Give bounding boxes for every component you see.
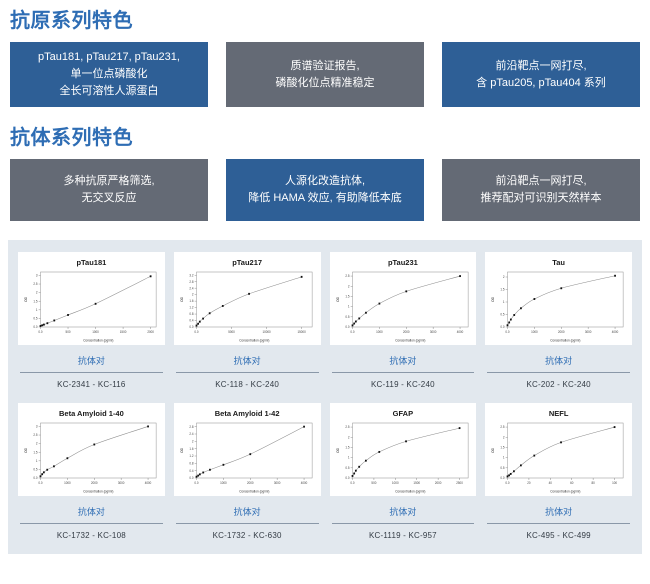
antibody-pair-code: KC-118 - KC-240	[174, 373, 321, 393]
antibody-pair-label: 抗体对	[485, 496, 632, 523]
svg-text:0.0: 0.0	[38, 481, 42, 485]
feature-box: pTau181, pTau217, pTau231,单一位点磷酸化全长可溶性人源…	[10, 42, 208, 107]
chart-y-axis-label: OD	[336, 447, 340, 453]
svg-text:4000: 4000	[301, 481, 308, 485]
chart-data-point	[364, 460, 366, 462]
svg-text:2: 2	[36, 442, 38, 446]
svg-text:1: 1	[347, 456, 349, 460]
feature-box: 质谱验证报告,磷酸化位点精准稳定	[226, 42, 424, 107]
chart-x-axis-label: Concentration (pg/ml)	[83, 338, 113, 342]
chart-data-point	[561, 287, 563, 289]
feature-box: 人源化改造抗体,降低 HAMA 效应, 有助降低本底	[226, 159, 424, 221]
svg-text:0.0: 0.0	[38, 330, 42, 334]
svg-text:2.5: 2.5	[33, 433, 37, 437]
svg-text:1.6: 1.6	[189, 299, 193, 303]
chart-x-axis-label: Concentration (pg/ml)	[550, 489, 580, 493]
svg-text:1: 1	[503, 300, 505, 304]
svg-text:2.5: 2.5	[345, 425, 349, 429]
chart-data-point	[209, 469, 211, 471]
chart-data-point	[378, 303, 380, 305]
antibody-pair-label: 抗体对	[18, 496, 165, 523]
chart-data-point	[514, 314, 516, 316]
svg-text:0.0: 0.0	[501, 325, 505, 329]
chart-plot: 0.010002000300040000.00.40.81.21.622.42.…	[178, 419, 317, 494]
chart-data-point	[508, 474, 510, 476]
chart-data-point	[248, 293, 250, 295]
chart-data-point	[41, 473, 43, 475]
feature-box-line: 降低 HAMA 效应, 有助降低本底	[248, 190, 401, 207]
antibody-pair-code: KC-119 - KC-240	[330, 373, 477, 393]
feature-box-line: 人源化改造抗体,	[285, 173, 365, 190]
chart-data-point	[150, 275, 152, 277]
chart-data-point	[507, 324, 509, 326]
antibody-pair-label: 抗体对	[174, 345, 321, 372]
svg-text:40: 40	[549, 481, 553, 485]
antibody-pair-code: KC-495 - KC-499	[485, 524, 632, 544]
chart-x-axis-label: Concentration (pg/ml)	[239, 489, 269, 493]
chart-plot-area: 0.05001000150020000.00.511.522.53ODConce…	[22, 268, 161, 343]
svg-text:2: 2	[36, 291, 38, 295]
chart-y-axis-label: OD	[24, 447, 28, 453]
svg-text:4000: 4000	[612, 330, 619, 334]
svg-text:1.5: 1.5	[33, 299, 37, 303]
chart-data-point	[41, 324, 43, 326]
chart-data-point	[199, 473, 201, 475]
feature-box-line: 推荐配对可识别天然样本	[481, 190, 602, 207]
chart-x-axis-label: Concentration (pg/ml)	[550, 338, 580, 342]
svg-text:0.4: 0.4	[189, 469, 193, 473]
svg-text:2.8: 2.8	[189, 280, 193, 284]
chart-figure: Tau0.010002000300040000.00.511.52ODConce…	[485, 252, 632, 345]
svg-text:2: 2	[347, 435, 349, 439]
chart-data-point	[358, 466, 360, 468]
svg-text:1000: 1000	[376, 330, 383, 334]
chart-card[interactable]: pTau1810.05001000150020000.00.511.522.53…	[18, 252, 165, 393]
chart-data-point	[510, 473, 512, 475]
chart-data-point	[459, 275, 461, 277]
svg-text:1000: 1000	[92, 330, 99, 334]
chart-card[interactable]: Beta Amyloid 1-420.010002000300040000.00…	[174, 403, 321, 544]
chart-title: Beta Amyloid 1-40	[22, 408, 161, 419]
svg-text:2000: 2000	[434, 481, 441, 485]
svg-text:0.0: 0.0	[189, 476, 193, 480]
svg-text:1000: 1000	[220, 481, 227, 485]
svg-text:0.4: 0.4	[189, 319, 193, 323]
chart-row-bottom: Beta Amyloid 1-400.010002000300040000.00…	[18, 403, 632, 544]
svg-text:10000: 10000	[262, 330, 270, 334]
svg-text:3000: 3000	[118, 481, 125, 485]
chart-y-axis-label: OD	[491, 296, 495, 302]
chart-x-axis-label: Concentration (pg/ml)	[395, 338, 425, 342]
chart-data-point	[197, 323, 199, 325]
svg-text:1500: 1500	[413, 481, 420, 485]
svg-text:1000: 1000	[64, 481, 71, 485]
svg-text:3: 3	[36, 273, 38, 277]
chart-data-point	[507, 475, 509, 477]
svg-text:2.5: 2.5	[33, 282, 37, 286]
feature-box-line: 含 pTau205, pTau404 系列	[476, 75, 606, 92]
chart-plot: 0.010002000300040000.00.511.522.5ODConce…	[334, 268, 473, 343]
chart-figure: pTau2170.0500010000150000.00.40.81.21.62…	[174, 252, 321, 345]
chart-data-point	[43, 324, 45, 326]
svg-text:1.5: 1.5	[345, 445, 349, 449]
chart-data-point	[40, 325, 42, 327]
svg-text:0.0: 0.0	[345, 476, 349, 480]
chart-title: pTau181	[22, 257, 161, 268]
feature-box-line: 多种抗原严格筛选,	[63, 173, 154, 190]
chart-data-point	[520, 464, 522, 466]
svg-text:1.2: 1.2	[189, 306, 193, 310]
chart-data-point	[353, 473, 355, 475]
chart-title: NEFL	[489, 408, 628, 419]
chart-figure: Beta Amyloid 1-420.010002000300040000.00…	[174, 403, 321, 496]
antibody-pair-code: KC-2341 - KC-116	[18, 373, 165, 393]
chart-data-point	[303, 426, 305, 428]
svg-text:2.4: 2.4	[189, 432, 193, 436]
svg-text:0.0: 0.0	[501, 476, 505, 480]
chart-y-axis-label: OD	[180, 447, 184, 453]
svg-text:5000: 5000	[228, 330, 235, 334]
chart-figure: Beta Amyloid 1-400.010002000300040000.00…	[18, 403, 165, 496]
chart-data-point	[93, 444, 95, 446]
chart-figure: pTau2310.010002000300040000.00.511.522.5…	[330, 252, 477, 345]
chart-data-point	[209, 312, 211, 314]
antibody-section-heading: 抗体系列特色	[0, 107, 650, 150]
svg-text:1: 1	[503, 456, 505, 460]
chart-data-point	[202, 318, 204, 320]
svg-text:0.0: 0.0	[506, 330, 510, 334]
svg-text:2: 2	[347, 284, 349, 288]
svg-text:2.5: 2.5	[501, 425, 505, 429]
antibody-pair-label: 抗体对	[18, 345, 165, 372]
chart-plot: 0.05001000150020000.00.511.522.53ODConce…	[22, 268, 161, 343]
chart-data-point	[513, 470, 515, 472]
svg-text:1: 1	[36, 308, 38, 312]
svg-text:2.4: 2.4	[189, 286, 193, 290]
chart-title: pTau217	[178, 257, 317, 268]
svg-text:1.6: 1.6	[189, 447, 193, 451]
feature-box: 前沿靶点一网打尽,推荐配对可识别天然样本	[442, 159, 640, 221]
chart-plot: 0.010002000300040000.00.511.522.53ODConc…	[22, 419, 161, 494]
chart-plot-area: 0.010002000300040000.00.40.81.21.622.42.…	[178, 419, 317, 494]
feature-box-line: 质谱验证报告,	[290, 58, 359, 75]
svg-text:1: 1	[36, 459, 38, 463]
chart-data-point	[53, 465, 55, 467]
svg-text:0.0: 0.0	[194, 481, 198, 485]
chart-card[interactable]: NEFL0.0204060801000.00.511.522.5ODConcen…	[485, 403, 632, 544]
svg-text:0.0: 0.0	[33, 325, 37, 329]
chart-plot: 0.0500010000150000.00.40.81.21.622.42.83…	[178, 268, 317, 343]
svg-text:1.5: 1.5	[501, 445, 505, 449]
antibody-pair-label: 抗体对	[330, 345, 477, 372]
feature-box-line: 磷酸化位点精准稳定	[276, 75, 375, 92]
chart-plot-area: 0.010002000300040000.00.511.52ODConcentr…	[489, 268, 628, 343]
antibody-pair-code: KC-1119 - KC-957	[330, 524, 477, 544]
chart-x-axis-label: Concentration (pg/ml)	[239, 338, 269, 342]
chart-figure: pTau1810.05001000150020000.00.511.522.53…	[18, 252, 165, 345]
chart-data-point	[195, 325, 197, 327]
svg-text:0.5: 0.5	[33, 316, 37, 320]
chart-data-point	[67, 314, 69, 316]
svg-text:0.0: 0.0	[345, 325, 349, 329]
chart-x-axis-label: Concentration (pg/ml)	[83, 489, 113, 493]
chart-plot-area: 0.010002000300040000.00.511.522.5ODConce…	[334, 268, 473, 343]
chart-data-point	[509, 322, 511, 324]
svg-text:0.8: 0.8	[189, 461, 193, 465]
svg-text:2000: 2000	[402, 330, 409, 334]
svg-text:0.0: 0.0	[350, 481, 354, 485]
svg-text:1: 1	[347, 305, 349, 309]
svg-text:0.0: 0.0	[350, 330, 354, 334]
feature-box-line: pTau181, pTau217, pTau231,	[38, 49, 180, 66]
svg-text:2000: 2000	[558, 330, 565, 334]
chart-figure: NEFL0.0204060801000.00.511.522.5ODConcen…	[485, 403, 632, 496]
chart-data-point	[43, 471, 45, 473]
chart-data-point	[197, 475, 199, 477]
chart-data-point	[458, 427, 460, 429]
svg-text:1.5: 1.5	[345, 294, 349, 298]
svg-text:0.5: 0.5	[345, 315, 349, 319]
chart-card[interactable]: GFAP0.050010001500200025000.00.511.522.5…	[330, 403, 477, 544]
svg-text:1.2: 1.2	[189, 454, 193, 458]
chart-data-point	[351, 324, 353, 326]
chart-data-point	[300, 276, 302, 278]
antibody-pair-code: KC-1732 - KC-108	[18, 524, 165, 544]
chart-data-point	[365, 312, 367, 314]
chart-card[interactable]: pTau2310.010002000300040000.00.511.522.5…	[330, 252, 477, 393]
chart-data-point	[351, 475, 353, 477]
chart-data-point	[614, 426, 616, 428]
chart-data-point	[46, 469, 48, 471]
svg-text:2: 2	[192, 293, 194, 297]
chart-data-point	[47, 322, 49, 324]
chart-data-point	[40, 475, 42, 477]
svg-text:0.0: 0.0	[189, 325, 193, 329]
svg-text:500: 500	[66, 330, 71, 334]
chart-grid-panel: pTau1810.05001000150020000.00.511.522.53…	[8, 240, 642, 554]
chart-data-point	[195, 476, 197, 478]
chart-plot: 0.050010001500200025000.00.511.522.5ODCo…	[334, 419, 473, 494]
chart-data-point	[67, 457, 69, 459]
svg-text:0.5: 0.5	[501, 466, 505, 470]
antibody-pair-code: KC-202 - KC-240	[485, 373, 632, 393]
antibody-pair-label: 抗体对	[330, 496, 477, 523]
chart-data-point	[199, 321, 201, 323]
chart-data-point	[534, 455, 536, 457]
svg-text:2000: 2000	[247, 481, 254, 485]
svg-text:0.5: 0.5	[345, 466, 349, 470]
feature-box: 多种抗原严格筛选,无交叉反应	[10, 159, 208, 221]
chart-data-point	[249, 453, 251, 455]
svg-text:2000: 2000	[147, 330, 154, 334]
svg-text:2: 2	[503, 435, 505, 439]
antibody-pair-code: KC-1732 - KC-630	[174, 524, 321, 544]
chart-row-top: pTau1810.05001000150020000.00.511.522.53…	[18, 252, 632, 393]
antibody-pair-label: 抗体对	[485, 345, 632, 372]
svg-text:2.5: 2.5	[345, 274, 349, 278]
svg-text:20: 20	[528, 481, 532, 485]
chart-title: GFAP	[334, 408, 473, 419]
svg-text:3.2: 3.2	[189, 273, 193, 277]
chart-data-point	[222, 305, 224, 307]
chart-data-point	[358, 317, 360, 319]
feature-box-line: 全长可溶性人源蛋白	[60, 83, 159, 100]
svg-text:0.0: 0.0	[506, 481, 510, 485]
feature-box: 前沿靶点一网打尽,含 pTau205, pTau404 系列	[442, 42, 640, 107]
svg-text:4000: 4000	[145, 481, 152, 485]
chart-y-axis-label: OD	[24, 296, 28, 302]
chart-figure: GFAP0.050010001500200025000.00.511.522.5…	[330, 403, 477, 496]
chart-data-point	[147, 425, 149, 427]
chart-y-axis-label: OD	[491, 447, 495, 453]
svg-text:100: 100	[612, 481, 617, 485]
chart-data-point	[534, 298, 536, 300]
svg-text:1.5: 1.5	[501, 287, 505, 291]
svg-text:1500: 1500	[120, 330, 127, 334]
svg-text:0.0: 0.0	[33, 476, 37, 480]
svg-text:0.8: 0.8	[189, 312, 193, 316]
feature-box-line: 单一位点磷酸化	[71, 66, 148, 83]
chart-data-point	[405, 440, 407, 442]
feature-box-line: 无交叉反应	[82, 190, 137, 207]
chart-data-point	[354, 321, 356, 323]
svg-text:2: 2	[503, 275, 505, 279]
svg-text:1000: 1000	[531, 330, 538, 334]
svg-text:2: 2	[192, 439, 194, 443]
chart-card[interactable]: Beta Amyloid 1-400.010002000300040000.00…	[18, 403, 165, 544]
chart-plot: 0.010002000300040000.00.511.52ODConcentr…	[489, 268, 628, 343]
chart-data-point	[353, 323, 355, 325]
svg-text:500: 500	[371, 481, 376, 485]
chart-data-point	[378, 451, 380, 453]
chart-data-point	[202, 472, 204, 474]
svg-text:0.5: 0.5	[501, 312, 505, 316]
feature-box-line: 前沿靶点一网打尽,	[495, 58, 586, 75]
chart-title: pTau231	[334, 257, 473, 268]
svg-text:1.5: 1.5	[33, 450, 37, 454]
svg-text:0.5: 0.5	[33, 467, 37, 471]
svg-text:15000: 15000	[297, 330, 305, 334]
chart-y-axis-label: OD	[336, 296, 340, 302]
svg-text:60: 60	[570, 481, 574, 485]
antigen-section-heading: 抗原系列特色	[0, 0, 650, 33]
antigen-feature-row: pTau181, pTau217, pTau231,单一位点磷酸化全长可溶性人源…	[0, 33, 650, 107]
svg-text:2000: 2000	[91, 481, 98, 485]
chart-title: Beta Amyloid 1-42	[178, 408, 317, 419]
page-root: 抗原系列特色 pTau181, pTau217, pTau231,单一位点磷酸化…	[0, 0, 650, 584]
chart-data-point	[222, 464, 224, 466]
chart-data-point	[95, 303, 97, 305]
svg-text:2.8: 2.8	[189, 425, 193, 429]
chart-plot-area: 0.050010001500200025000.00.511.522.5ODCo…	[334, 419, 473, 494]
chart-card[interactable]: pTau2170.0500010000150000.00.40.81.21.62…	[174, 252, 321, 393]
chart-card[interactable]: Tau0.010002000300040000.00.511.52ODConce…	[485, 252, 632, 393]
feature-box-line: 前沿靶点一网打尽,	[495, 173, 586, 190]
antibody-feature-row: 多种抗原严格筛选,无交叉反应人源化改造抗体,降低 HAMA 效应, 有助降低本底…	[0, 150, 650, 221]
svg-text:80: 80	[592, 481, 596, 485]
chart-data-point	[510, 319, 512, 321]
svg-text:2500: 2500	[456, 481, 463, 485]
chart-data-point	[354, 470, 356, 472]
chart-plot-area: 0.0500010000150000.00.40.81.21.622.42.83…	[178, 268, 317, 343]
svg-text:3000: 3000	[585, 330, 592, 334]
chart-plot-area: 0.010002000300040000.00.511.522.53ODConc…	[22, 419, 161, 494]
svg-text:3000: 3000	[274, 481, 281, 485]
chart-data-point	[560, 441, 562, 443]
svg-text:1000: 1000	[392, 481, 399, 485]
svg-text:4000: 4000	[456, 330, 463, 334]
svg-text:3: 3	[36, 424, 38, 428]
chart-plot-area: 0.0204060801000.00.511.522.5ODConcentrat…	[489, 419, 628, 494]
chart-data-point	[405, 290, 407, 292]
chart-x-axis-label: Concentration (pg/ml)	[395, 489, 425, 493]
svg-text:0.0: 0.0	[194, 330, 198, 334]
svg-text:3000: 3000	[429, 330, 436, 334]
chart-plot: 0.0204060801000.00.511.522.5ODConcentrat…	[489, 419, 628, 494]
chart-title: Tau	[489, 257, 628, 268]
antibody-pair-label: 抗体对	[174, 496, 321, 523]
chart-data-point	[614, 275, 616, 277]
chart-data-point	[520, 307, 522, 309]
chart-data-point	[53, 320, 55, 322]
chart-y-axis-label: OD	[180, 296, 184, 302]
